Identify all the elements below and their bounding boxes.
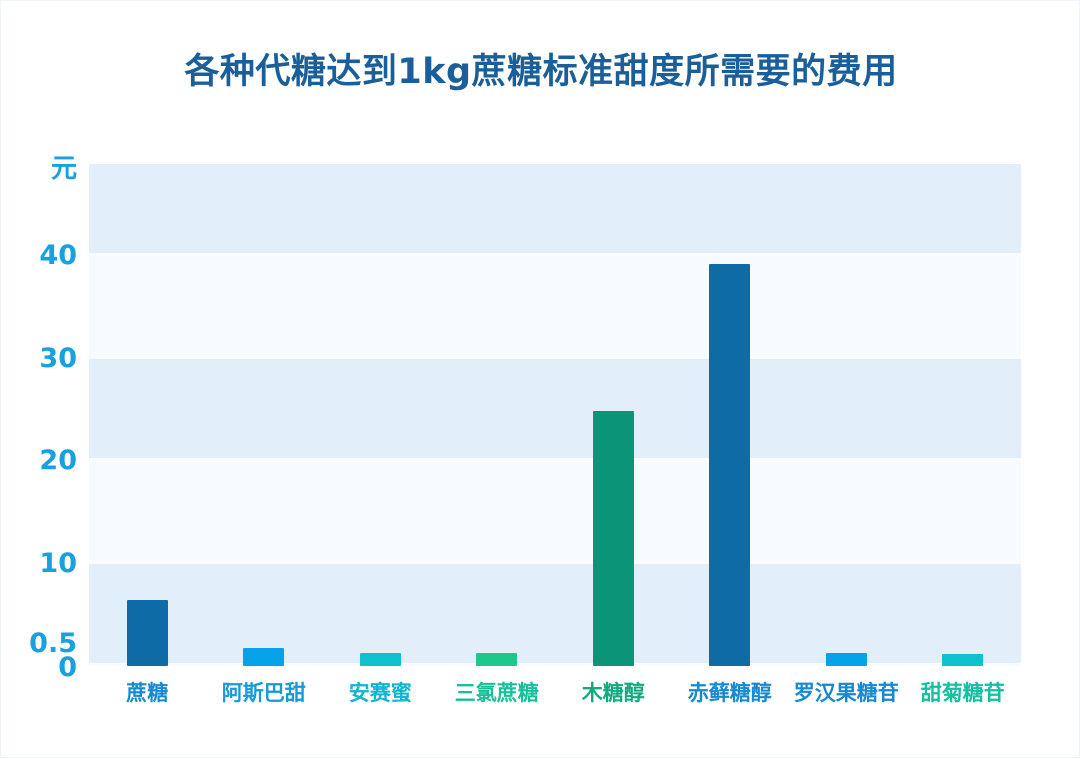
bar-安赛蜜[interactable]: [360, 653, 401, 666]
x-tick-label-甜菊糖苷: 甜菊糖苷: [921, 682, 1005, 705]
y-tick-label: 20: [39, 447, 77, 474]
bar-蔗糖[interactable]: [127, 600, 168, 666]
bar-三氯蔗糖[interactable]: [476, 653, 517, 666]
bars-group: [89, 164, 1021, 666]
x-axis: 蔗糖阿斯巴甜安赛蜜三氯蔗糖木糖醇赤藓糖醇罗汉果糖苷甜菊糖苷: [89, 682, 1021, 722]
x-tick-label-三氯蔗糖: 三氯蔗糖: [455, 682, 539, 705]
y-tick-label: 元: [51, 156, 77, 182]
x-tick-label-木糖醇: 木糖醇: [582, 682, 645, 705]
x-tick-label-蔗糖: 蔗糖: [126, 682, 168, 705]
bar-罗汉果糖苷[interactable]: [826, 653, 867, 666]
y-tick-label: 30: [39, 345, 77, 372]
chart-figure: 各种代糖达到1kg蔗糖标准甜度所需要的费用 元403020100.50 蔗糖阿斯…: [0, 0, 1080, 758]
x-tick-label-安赛蜜: 安赛蜜: [349, 682, 412, 705]
chart-title: 各种代糖达到1kg蔗糖标准甜度所需要的费用: [1, 43, 1080, 94]
bar-甜菊糖苷[interactable]: [942, 654, 983, 666]
x-tick-label-阿斯巴甜: 阿斯巴甜: [222, 682, 306, 705]
y-tick-label: 0: [58, 654, 77, 681]
bar-木糖醇[interactable]: [593, 411, 634, 666]
bar-阿斯巴甜[interactable]: [243, 648, 284, 666]
bar-赤藓糖醇[interactable]: [709, 264, 750, 666]
y-tick-label: 40: [39, 242, 77, 269]
y-tick-label: 10: [39, 550, 77, 577]
x-tick-label-罗汉果糖苷: 罗汉果糖苷: [794, 682, 899, 705]
y-axis: 元403020100.50: [1, 1, 89, 759]
x-tick-label-赤藓糖醇: 赤藓糖醇: [688, 682, 772, 705]
plot-area: [89, 164, 1021, 666]
